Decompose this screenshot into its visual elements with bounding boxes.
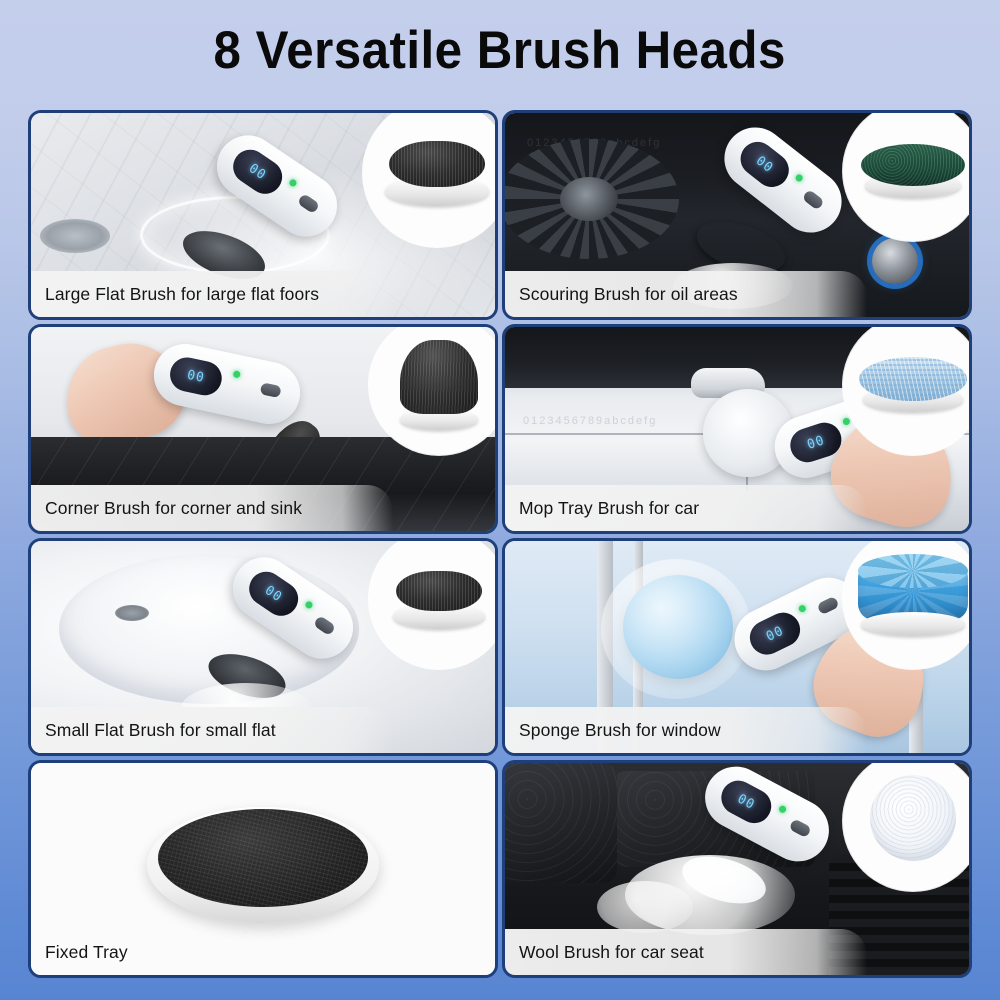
conical-corner-brush-head-icon: [400, 340, 478, 414]
device-power-button: [313, 615, 336, 636]
caption-mop-tray-brush: Mop Tray Brush for car: [505, 485, 867, 531]
caption-scouring-brush: Scouring Brush for oil areas: [505, 271, 867, 317]
white-wool-pad-head-icon: [870, 775, 956, 861]
device-display-screen: 00: [167, 354, 225, 398]
card-sponge-brush[interactable]: 00 Sponge Brush for window: [502, 538, 972, 756]
foam-suds: [597, 881, 693, 933]
image-watermark: 0123456789abcdefg: [523, 415, 657, 427]
card-corner-brush[interactable]: 00 Corner Brush for corner and sink: [28, 324, 498, 534]
caption-corner-brush: Corner Brush for corner and sink: [31, 485, 393, 531]
device-display-screen: 00: [243, 565, 305, 622]
device-status-led: [842, 417, 851, 426]
caption-sponge-brush: Sponge Brush for window: [505, 707, 867, 753]
device-display-value: 00: [805, 433, 826, 453]
device-display-screen: 00: [744, 607, 806, 660]
caption-wool-brush: Wool Brush for car seat: [505, 929, 867, 975]
device-power-button: [816, 596, 839, 616]
black-velcro-backing-tray-icon: [158, 809, 368, 907]
card-large-flat-brush[interactable]: 00 Large Flat Brush for large flat foors: [28, 110, 498, 320]
device-display-value: 00: [186, 367, 206, 385]
card-small-flat-brush[interactable]: 00 Small Flat Brush for small flat: [28, 538, 498, 756]
brush-head-grid: 00 Large Flat Brush for large flat foors…: [28, 110, 972, 978]
caption-fixed-tray: Fixed Tray: [31, 929, 495, 975]
device-power-button: [297, 193, 320, 214]
blue-microfiber-mop-pad-head-icon: [859, 357, 967, 401]
device-status-led: [304, 600, 314, 610]
stove-burner: [502, 139, 679, 259]
stove-control-knob: [872, 238, 918, 284]
device-display-value: 00: [262, 583, 285, 605]
device-display-value: 00: [246, 161, 269, 183]
device-power-button: [260, 382, 282, 398]
card-fixed-tray[interactable]: Fixed Tray: [28, 760, 498, 978]
card-scouring-brush[interactable]: 0123456789abcdefg 00 Scouring Brush for …: [502, 110, 972, 320]
device-status-led: [778, 805, 787, 814]
device-display-value: 00: [735, 791, 758, 813]
device-status-led: [288, 178, 298, 188]
page-header: 8 Versatile Brush Heads: [0, 0, 1000, 100]
caption-large-flat-brush: Large Flat Brush for large flat foors: [31, 271, 393, 317]
page-title: 8 Versatile Brush Heads: [214, 20, 786, 81]
sponge-top-surface: [858, 554, 968, 588]
device-display-screen: 00: [734, 135, 796, 194]
device-display-value: 00: [753, 153, 776, 176]
card-wool-brush[interactable]: 00 Wool Brush for car seat: [502, 760, 972, 978]
device-power-button: [802, 189, 825, 211]
green-scouring-pad-head-icon: [861, 144, 965, 186]
sink-overflow-hole: [115, 605, 149, 621]
caption-small-flat-brush: Small Flat Brush for small flat: [31, 707, 393, 753]
device-status-led: [233, 370, 241, 378]
device-status-led: [798, 604, 807, 613]
car-door-panel: [505, 763, 617, 883]
water-splash: [601, 559, 751, 699]
flat-bristle-brush-head-icon: [389, 141, 485, 187]
device-status-led: [794, 173, 804, 183]
device-power-button: [789, 818, 812, 838]
device-display-screen: 00: [227, 143, 289, 200]
device-display-value: 00: [764, 623, 786, 644]
card-mop-tray-brush[interactable]: 0123456789abcdefg 00 Mop Tray Brush for …: [502, 324, 972, 534]
device-display-screen: 00: [715, 775, 777, 829]
small-flat-bristle-brush-head-icon: [396, 571, 482, 611]
brush-head-base: [861, 612, 965, 636]
floor-drain: [40, 219, 110, 253]
